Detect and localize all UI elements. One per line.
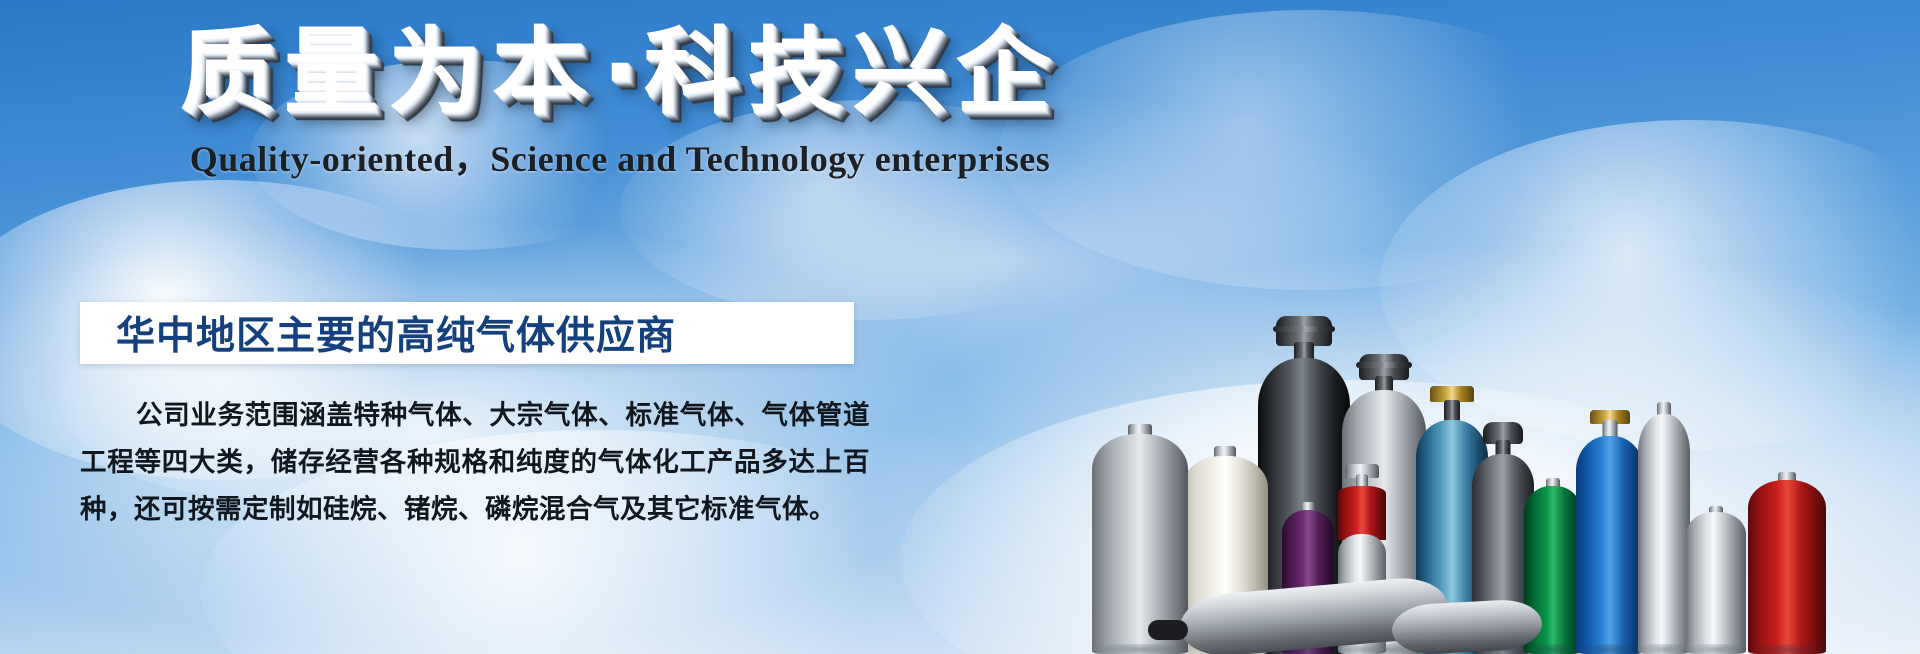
blue-cylinder (1576, 410, 1644, 654)
aluminum-cylinder-tall (1638, 402, 1690, 654)
headline-block: 质量为本·科技兴企 Quality-oriented，Science and T… (0, 22, 1240, 182)
banner-headline: 质量为本·科技兴企 (0, 22, 1240, 124)
promo-banner: 质量为本·科技兴企 Quality-oriented，Science and T… (0, 0, 1920, 654)
red-cylinder (1748, 472, 1826, 654)
banner-subtitle: Quality-oriented，Science and Technology … (0, 130, 1240, 182)
tagline-box: 华中地区主要的高纯气体供应商 (80, 302, 854, 364)
gas-cylinder-group-image (1220, 234, 1920, 654)
lying-cylinder-2 (1391, 598, 1543, 654)
lying-cylinder-valve (1148, 620, 1188, 640)
aluminum-cylinder-short (1686, 506, 1746, 654)
headline-segment-2: 科技兴企 (644, 18, 1060, 127)
tagline-text: 华中地区主要的高纯气体供应商 (80, 305, 676, 361)
headline-segment-1: 质量为本 (180, 18, 596, 127)
banner-paragraph: 公司业务范围涵盖特种气体、大宗气体、标准气体、气体管道工程等四大类，储存经营各种… (80, 392, 870, 533)
headline-separator-dot: · (596, 18, 644, 127)
